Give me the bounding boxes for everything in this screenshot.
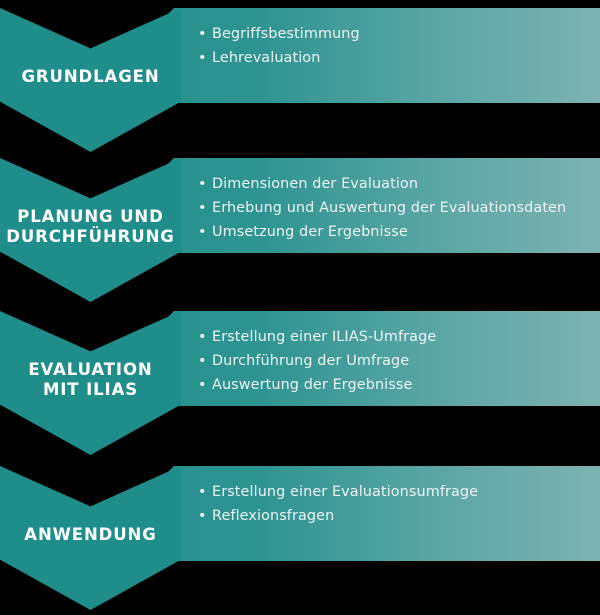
process-section-grundlagen: Begriffsbestimmung Lehrevaluation GRUNDL… xyxy=(0,0,600,152)
process-section-anwendung: Erstellung einer Evaluationsumfrage Refl… xyxy=(0,458,600,610)
infographic-canvas: Begriffsbestimmung Lehrevaluation GRUNDL… xyxy=(0,0,600,615)
section-bullet-list: Dimensionen der Evaluation Erhebung und … xyxy=(198,172,592,244)
section-bullet-list: Erstellung einer Evaluationsumfrage Refl… xyxy=(198,480,592,528)
section-content-panel: Erstellung einer ILIAS-Umfrage Durchführ… xyxy=(168,311,600,406)
process-section-evaluation-mit-ilias: Erstellung einer ILIAS-Umfrage Durchführ… xyxy=(0,303,600,455)
section-content-panel: Erstellung einer Evaluationsumfrage Refl… xyxy=(168,466,600,561)
list-item: Durchführung der Umfrage xyxy=(198,349,592,373)
section-content-panel: Begriffsbestimmung Lehrevaluation xyxy=(168,8,600,103)
process-section-planung-und-durchfuehrung: Dimensionen der Evaluation Erhebung und … xyxy=(0,150,600,302)
list-item: Dimensionen der Evaluation xyxy=(198,172,592,196)
list-item: Erstellung einer ILIAS-Umfrage xyxy=(198,325,592,349)
section-label: ANWENDUNG xyxy=(0,504,181,566)
section-label: GRUNDLAGEN xyxy=(0,46,181,108)
list-item: Umsetzung der Ergebnisse xyxy=(198,220,592,244)
list-item: Erhebung und Auswertung der Evaluationsd… xyxy=(198,196,592,220)
section-bullet-list: Erstellung einer ILIAS-Umfrage Durchführ… xyxy=(198,325,592,397)
list-item: Erstellung einer Evaluationsumfrage xyxy=(198,480,592,504)
list-item: Begriffsbestimmung xyxy=(198,22,592,46)
list-item: Auswertung der Ergebnisse xyxy=(198,373,592,397)
section-bullet-list: Begriffsbestimmung Lehrevaluation xyxy=(198,22,592,70)
section-content-panel: Dimensionen der Evaluation Erhebung und … xyxy=(168,158,600,253)
section-label: EVALUATION MIT ILIAS xyxy=(0,349,181,411)
list-item: Lehrevaluation xyxy=(198,46,592,70)
section-label: PLANUNG UND DURCHFÜHRUNG xyxy=(0,196,181,258)
list-item: Reflexionsfragen xyxy=(198,504,592,528)
